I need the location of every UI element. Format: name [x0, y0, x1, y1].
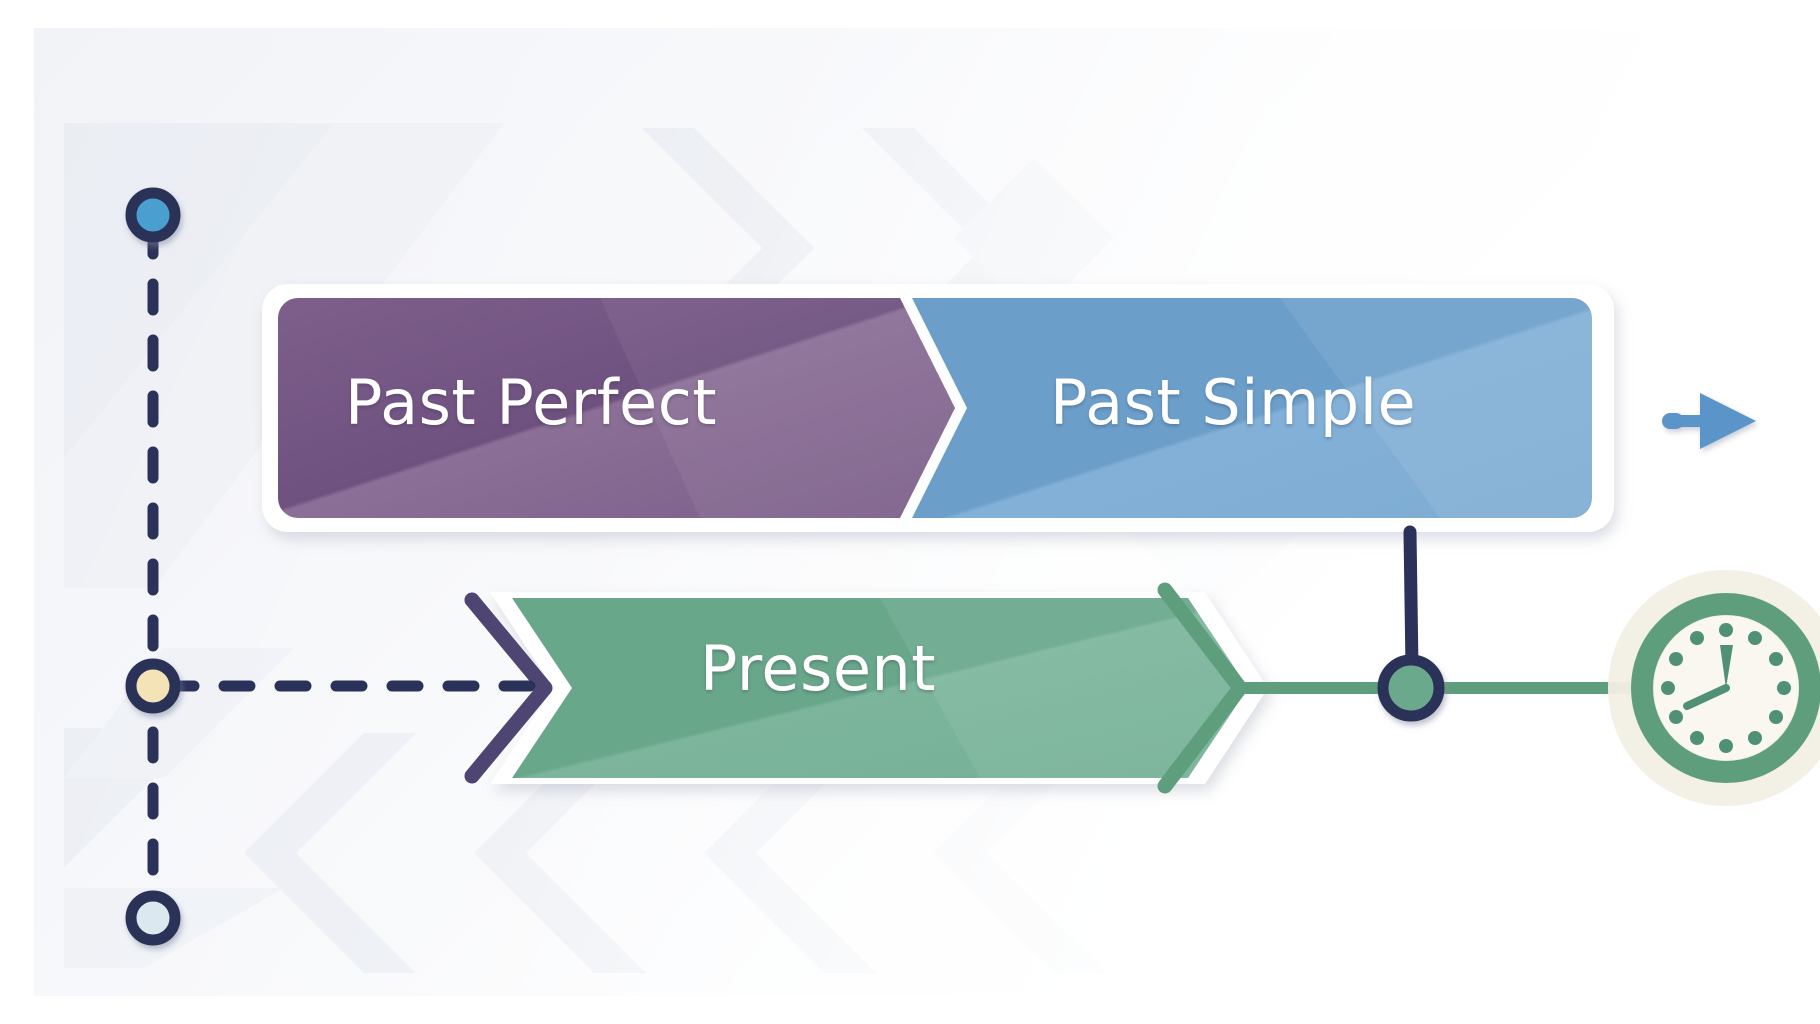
timeline-node-top[interactable]: [131, 193, 175, 237]
diagram-canvas: Past Perfect Past Simple Present: [0, 0, 1820, 1024]
timeline-node-middle[interactable]: [131, 664, 175, 708]
forward-arrow[interactable]: [1662, 393, 1756, 449]
timeline-node-bottom[interactable]: [131, 896, 175, 940]
past-simple-to-junction-connector: [1410, 532, 1412, 668]
junction-node[interactable]: [1383, 660, 1439, 716]
clock-icon[interactable]: [1608, 570, 1820, 806]
shapes-layer: [0, 0, 1820, 1024]
